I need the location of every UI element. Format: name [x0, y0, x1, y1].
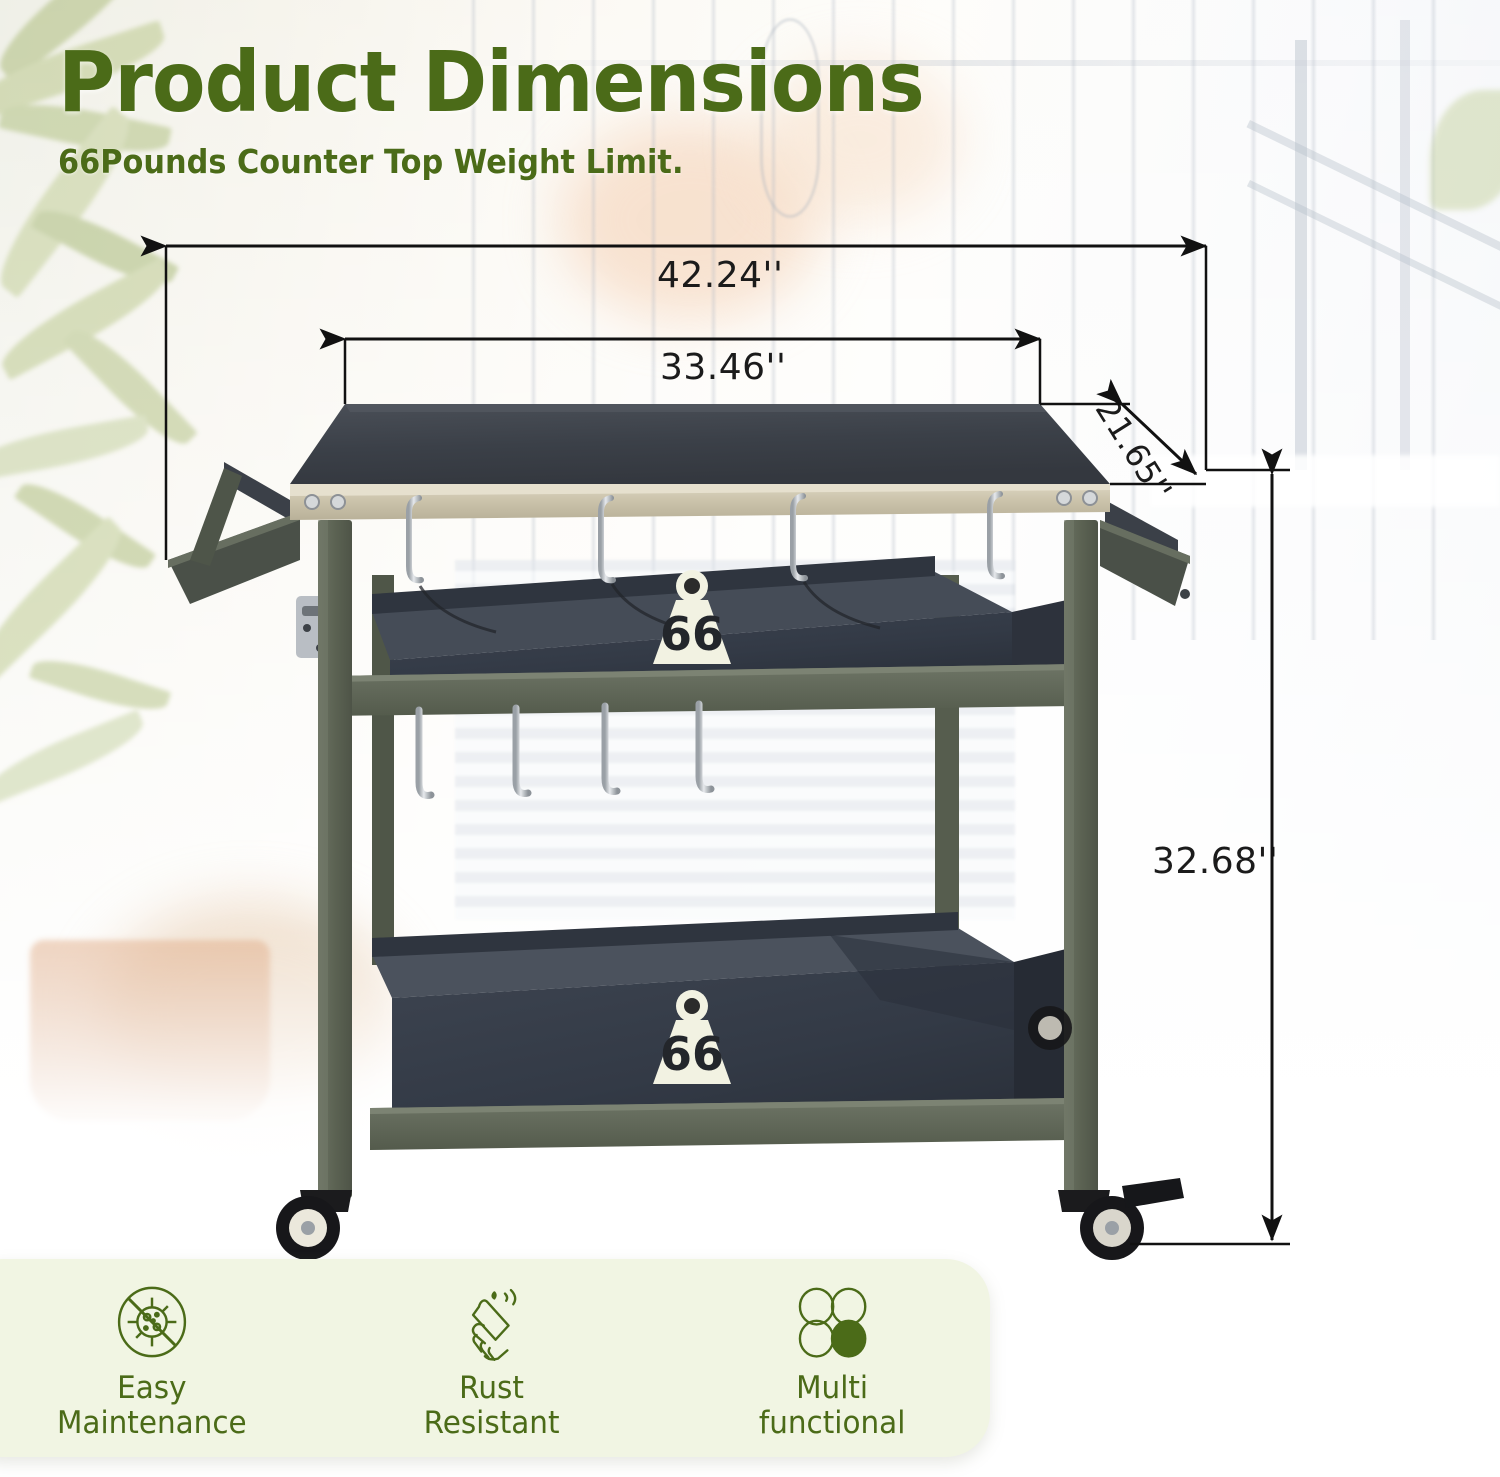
feature-label-line1: Easy — [117, 1370, 186, 1406]
product-illustration: 66 66 — [0, 0, 1500, 1260]
feature-label-line2: Maintenance — [57, 1405, 247, 1441]
weight-badge-value: 66 — [660, 607, 724, 661]
germ-blocked-icon — [113, 1283, 191, 1361]
caster-brake-lever — [1122, 1178, 1184, 1208]
feature-label-line1: Rust — [460, 1370, 525, 1406]
header: Product Dimensions 66Pounds Counter Top … — [58, 40, 989, 181]
caster-front-right — [1058, 1178, 1184, 1260]
right-side-shelf — [1100, 500, 1190, 606]
feature-rust-resistant: Rust Resistant — [342, 1275, 642, 1440]
feature-label: Easy Maintenance — [57, 1371, 247, 1440]
caster-front-left — [276, 1190, 352, 1260]
page-title: Product Dimensions — [58, 40, 924, 124]
feature-label: Multi functional — [759, 1371, 906, 1440]
caster-back-right — [1028, 1006, 1072, 1050]
feature-label-line2: functional — [759, 1405, 906, 1441]
feature-label: Rust Resistant — [424, 1371, 560, 1440]
four-dots-icon — [794, 1283, 870, 1361]
page-subtitle: 66Pounds Counter Top Weight Limit. — [58, 142, 914, 181]
feature-multi-functional: Multi functional — [682, 1275, 982, 1440]
weight-badge-value: 66 — [660, 1027, 724, 1081]
feature-label-line1: Multi — [796, 1370, 868, 1406]
feature-bar: Easy Maintenance Rust Resistant — [0, 1259, 990, 1457]
hook-row-lower — [419, 704, 711, 795]
feature-easy-maintenance: Easy Maintenance — [2, 1275, 302, 1440]
feature-label-line2: Resistant — [424, 1405, 560, 1441]
hand-wipe-cloth-icon — [455, 1283, 529, 1361]
